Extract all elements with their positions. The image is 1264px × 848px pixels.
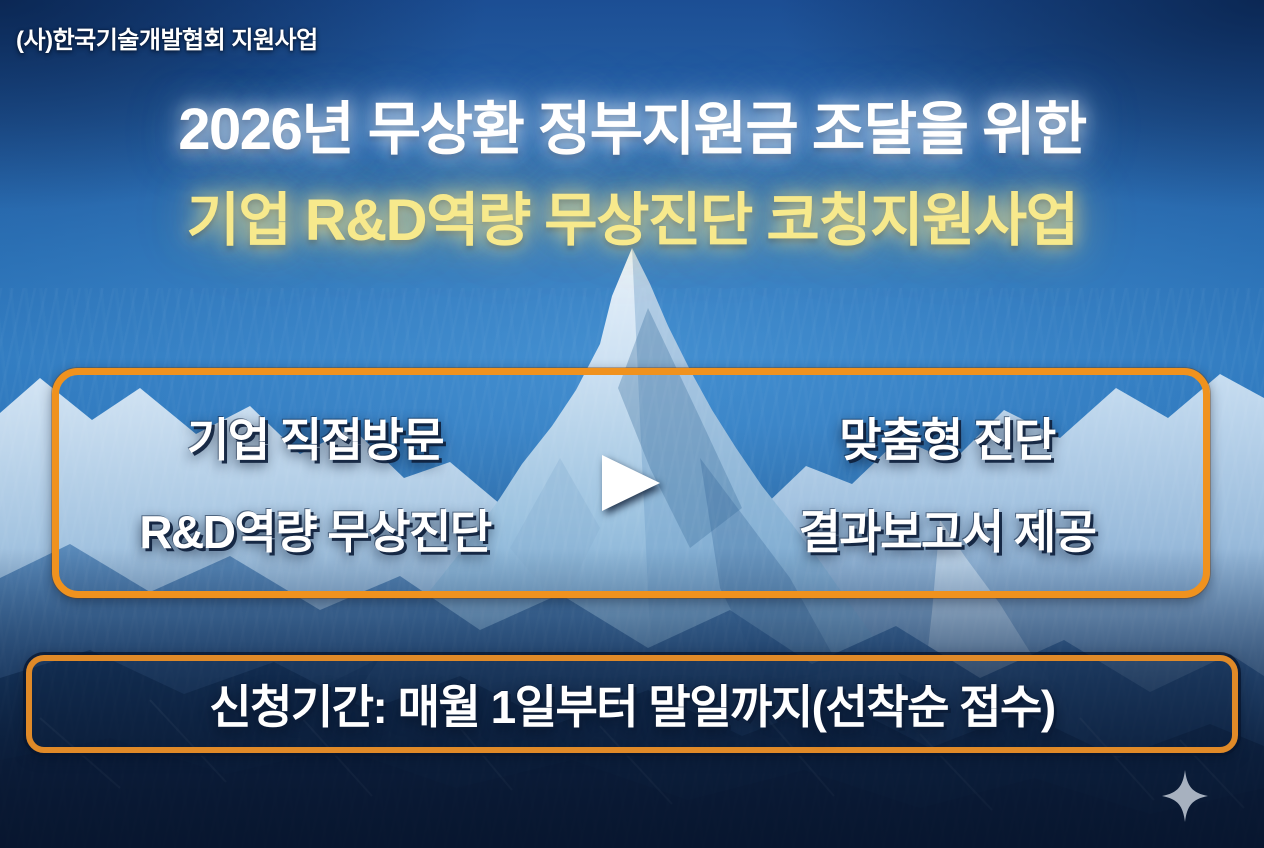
service-flow-left-column: 기업 직접방문 R&D역량 무상진단 bbox=[59, 375, 571, 591]
left-column-line-1: 기업 직접방문 bbox=[69, 404, 561, 470]
promo-banner: (사)한국기술개발협회 지원사업 2026년 무상환 정부지원금 조달을 위한 … bbox=[0, 0, 1264, 848]
left-column-line-2: R&D역량 무상진단 bbox=[69, 496, 561, 562]
application-period-box: 신청기간: 매월 1일부터 말일까지(선착순 접수) bbox=[26, 655, 1238, 753]
four-point-star-icon bbox=[1162, 770, 1208, 822]
right-column-line-1: 맞춤형 진단 bbox=[701, 404, 1193, 470]
application-period-text: 신청기간: 매월 1일부터 말일까지(선착순 접수) bbox=[209, 671, 1054, 737]
flow-arrow-cell bbox=[571, 455, 691, 511]
right-column-line-2: 결과보고서 제공 bbox=[701, 496, 1193, 562]
service-flow-grid: 기업 직접방문 R&D역량 무상진단 맞춤형 진단 결과보고서 제공 bbox=[59, 375, 1203, 591]
headline-line-1: 2026년 무상환 정부지원금 조달을 위한 bbox=[0, 82, 1264, 166]
organization-kicker: (사)한국기술개발협회 지원사업 bbox=[16, 20, 318, 55]
service-flow-right-column: 맞춤형 진단 결과보고서 제공 bbox=[691, 375, 1203, 591]
service-flow-box: 기업 직접방문 R&D역량 무상진단 맞춤형 진단 결과보고서 제공 bbox=[52, 368, 1210, 598]
triangle-right-icon bbox=[602, 455, 660, 511]
headline-line-2: 기업 R&D역량 무상진단 코칭지원사업 bbox=[0, 173, 1264, 257]
